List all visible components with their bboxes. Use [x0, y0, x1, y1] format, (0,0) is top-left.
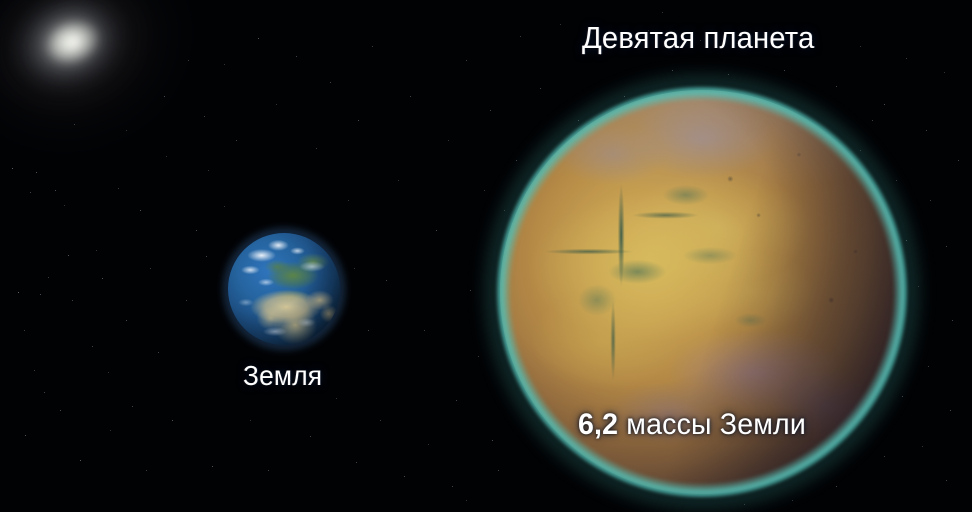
star: [276, 104, 277, 105]
star: [25, 435, 26, 436]
star: [404, 476, 405, 477]
star: [55, 190, 56, 191]
star: [484, 190, 485, 191]
star: [132, 406, 133, 407]
star: [18, 292, 19, 293]
star: [64, 205, 65, 206]
star: [354, 268, 355, 269]
star: [478, 356, 479, 357]
star: [398, 180, 399, 181]
star: [212, 466, 213, 467]
star: [520, 36, 521, 37]
star: [348, 200, 349, 201]
star: [206, 256, 207, 257]
star: [792, 500, 793, 501]
star: [330, 82, 331, 83]
star: [296, 56, 297, 57]
star: [140, 210, 141, 211]
star: [470, 290, 471, 291]
star: [126, 320, 127, 321]
star: [906, 58, 907, 59]
space-illustration-scene: Девятая планета Земля 6,2 массы Земли: [0, 0, 972, 512]
star: [44, 392, 45, 393]
star: [930, 200, 931, 201]
star: [40, 294, 41, 295]
star: [922, 446, 923, 447]
star: [186, 300, 187, 301]
star: [452, 486, 453, 487]
star: [36, 172, 37, 173]
star: [860, 46, 861, 47]
star: [208, 170, 209, 171]
star: [492, 440, 493, 441]
star: [250, 420, 251, 421]
star: [102, 278, 103, 279]
star: [96, 250, 97, 251]
star: [24, 330, 25, 331]
star: [436, 230, 437, 231]
star: [424, 330, 425, 331]
star: [410, 96, 411, 97]
earth-label: Земля: [243, 360, 322, 392]
star: [490, 110, 491, 111]
star: [72, 300, 73, 301]
planet-nine-label: Девятая планета: [582, 20, 814, 56]
star: [380, 420, 381, 421]
star: [224, 64, 225, 65]
star: [12, 168, 13, 169]
star: [118, 188, 119, 189]
star: [958, 160, 959, 161]
star: [30, 192, 31, 193]
star: [108, 372, 109, 373]
star: [110, 430, 111, 431]
star: [196, 230, 197, 231]
star: [146, 470, 147, 471]
star: [662, 12, 663, 13]
star: [92, 346, 93, 347]
star: [48, 277, 49, 278]
star: [224, 206, 225, 207]
earth-globe: [228, 233, 340, 345]
star: [150, 268, 151, 269]
star: [358, 120, 359, 121]
star: [80, 460, 81, 461]
planet-nine-mass-label: 6,2 массы Земли: [578, 408, 806, 442]
star: [166, 156, 167, 157]
star: [60, 410, 61, 411]
star: [336, 398, 337, 399]
star: [944, 72, 945, 73]
star: [466, 60, 467, 61]
star: [258, 38, 259, 39]
star: [952, 320, 953, 321]
star: [316, 148, 317, 149]
mass-value: 6,2: [578, 408, 618, 441]
star: [926, 130, 927, 131]
star: [236, 140, 237, 141]
star: [34, 370, 35, 371]
star: [950, 410, 951, 411]
star: [158, 352, 159, 353]
star: [946, 480, 947, 481]
star: [946, 246, 947, 247]
star: [466, 500, 467, 501]
star: [448, 140, 449, 141]
star: [68, 255, 69, 256]
star: [372, 46, 373, 47]
star: [204, 116, 205, 117]
star: [356, 462, 357, 463]
star: [928, 366, 929, 367]
star: [386, 280, 387, 281]
star: [310, 436, 311, 437]
mass-unit: массы Земли: [618, 408, 806, 441]
earth-terminator-shadow: [228, 233, 340, 345]
star: [784, 70, 785, 71]
star: [560, 24, 561, 25]
star: [456, 400, 457, 401]
star: [172, 420, 173, 421]
star: [268, 470, 269, 471]
star: [368, 330, 369, 331]
star: [428, 444, 429, 445]
